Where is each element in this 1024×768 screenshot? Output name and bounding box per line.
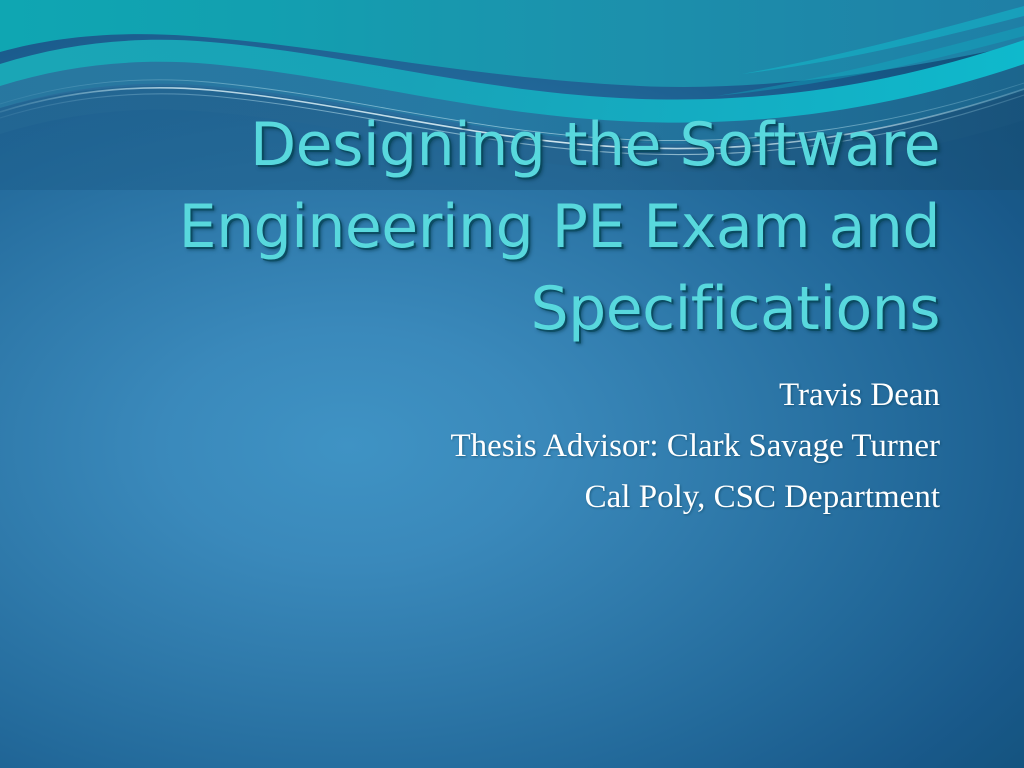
slide-title: Designing the Software Engineering PE Ex… [150,104,940,350]
wave-accent-streak-lower [716,26,1024,96]
subtitle-thesis-advisor: Thesis Advisor: Clark Savage Turner [240,421,940,472]
title-line-2: Engineering PE Exam and [150,186,940,268]
presentation-slide: Designing the Software Engineering PE Ex… [0,0,1024,768]
wave-accent-streak-upper [742,6,1024,74]
slide-subtitle: Travis Dean Thesis Advisor: Clark Savage… [240,370,940,523]
title-line-1: Designing the Software [150,104,940,186]
wave-teal-field [0,0,1024,87]
title-line-3: Specifications [150,268,940,350]
subtitle-presenter-name: Travis Dean [240,370,940,421]
subtitle-affiliation: Cal Poly, CSC Department [240,472,940,523]
